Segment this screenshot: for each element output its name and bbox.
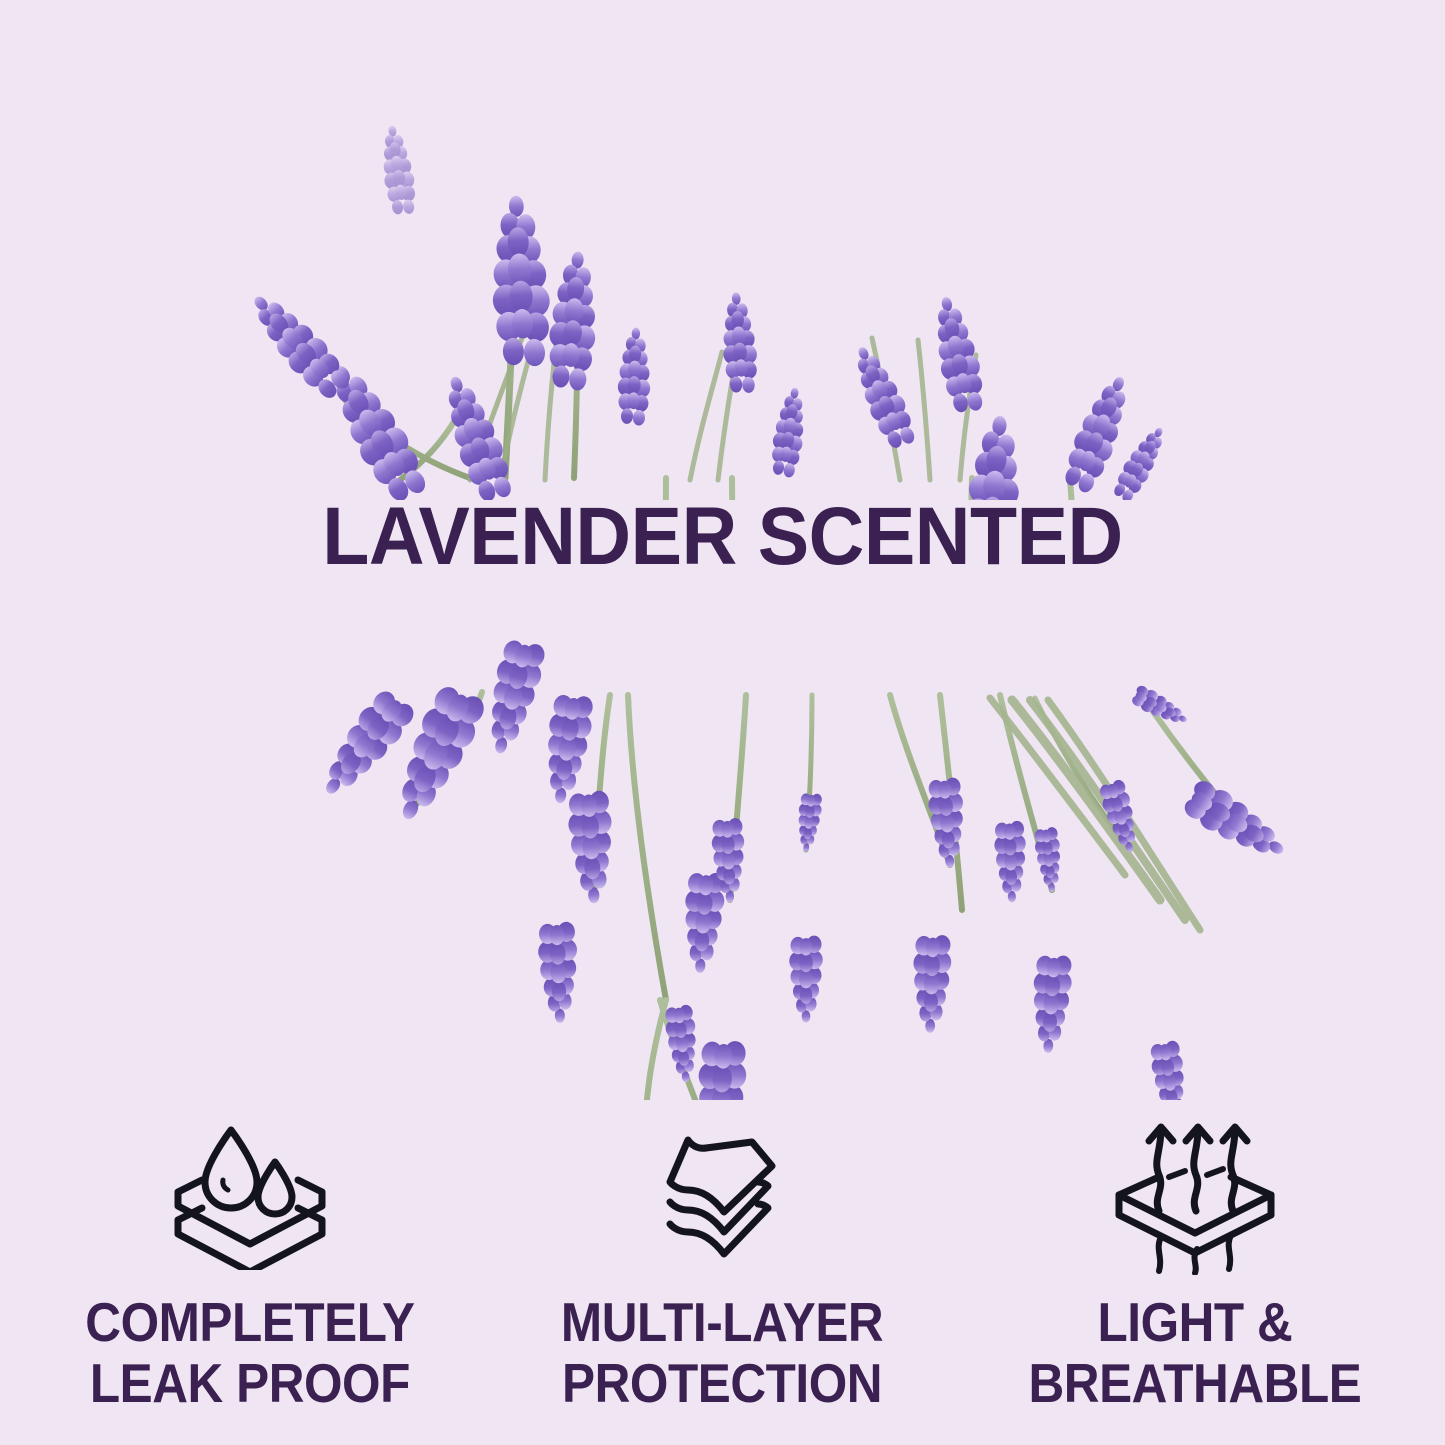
feature-label-line1: LIGHT &: [1098, 1291, 1293, 1353]
stacked-sheets-icon: [648, 1120, 798, 1270]
feature-label-line2: PROTECTION: [561, 1353, 883, 1414]
feature-label-breathable: LIGHT & BREATHABLE: [1029, 1292, 1362, 1414]
lavender-sprigs-hanging: [0, 600, 1445, 1100]
feature-list: COMPLETELY LEAK PROOF MULTI-LAYER PROTEC…: [0, 1120, 1445, 1430]
feature-item-breathable: LIGHT & BREATHABLE: [975, 1120, 1415, 1414]
feature-label-line2: BREATHABLE: [1029, 1353, 1362, 1414]
lavender-sprigs-upright: [0, 0, 1445, 500]
feature-item-multi-layer: MULTI-LAYER PROTECTION: [503, 1120, 943, 1414]
water-droplets-on-layers-icon: [158, 1120, 343, 1270]
feature-label-line1: COMPLETELY: [85, 1291, 414, 1353]
feature-label-leak-proof: COMPLETELY LEAK PROOF: [85, 1292, 414, 1414]
feature-label-line1: MULTI-LAYER: [561, 1291, 883, 1353]
feature-label-multi-layer: MULTI-LAYER PROTECTION: [561, 1292, 883, 1414]
page-title: LAVENDER SCENTED: [43, 489, 1401, 585]
feature-item-leak-proof: COMPLETELY LEAK PROOF: [30, 1120, 470, 1414]
feature-label-line2: LEAK PROOF: [85, 1353, 414, 1414]
product-feature-graphic: LAVENDER SCENTED: [0, 0, 1445, 1445]
airflow-arrows-through-layer-icon: [1103, 1120, 1288, 1270]
